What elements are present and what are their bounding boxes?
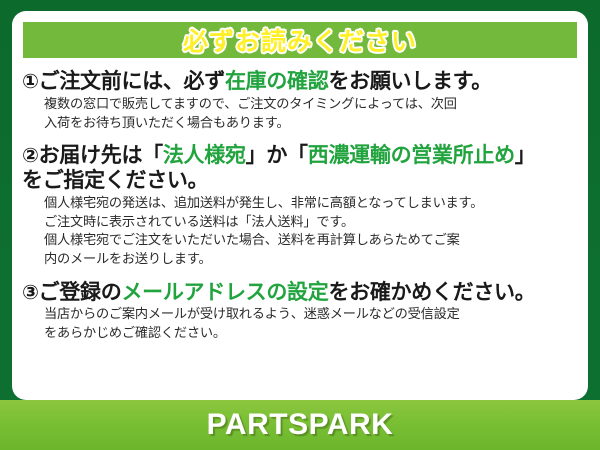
body-line: 複数の窓口で販売してますので、ご注文のタイミングによっては、次回 bbox=[44, 96, 580, 115]
heading-highlight: 在庫の確認 bbox=[225, 69, 329, 93]
heading-part: お届け先は「 bbox=[39, 143, 163, 167]
heading-part: をお願いします。 bbox=[328, 69, 492, 93]
notice-heading-3: ③ご登録のメールアドレスの設定をお確かめください。 bbox=[22, 280, 580, 305]
notice-poster: 必ずお読みください ①ご注文前には、必ず在庫の確認をお願いします。 複数の窓口で… bbox=[0, 0, 600, 450]
notice-body-3: 当店からのご案内メールが受け取れるよう、迷惑メールなどの受信設定 をあらかじめご… bbox=[22, 306, 580, 343]
body-line: 個人様宅宛の発送は、追加送料が発生し、非常に高額となってしまいます。 bbox=[44, 195, 580, 214]
item-marker: ③ bbox=[22, 281, 39, 305]
body-line: をあらかじめご確認ください。 bbox=[44, 325, 580, 344]
heading-highlight: 西濃運輸の営業所止め bbox=[308, 143, 515, 167]
heading-highlight: 法人様宛 bbox=[163, 143, 246, 167]
notice-list: ①ご注文前には、必ず在庫の確認をお願いします。 複数の窓口で販売してますので、ご… bbox=[12, 69, 588, 344]
brand-logo-text: PARTSPARK bbox=[207, 408, 394, 442]
heading-part: ご登録の bbox=[39, 280, 122, 304]
list-item: ②お届け先は「法人様宛」か「西濃運輸の営業所止め」 をご指定ください。 個人様宅… bbox=[12, 143, 588, 269]
heading-part: をお確かめください。 bbox=[328, 280, 535, 304]
heading-part: ご注文前には、必ず bbox=[39, 69, 225, 93]
content-panel: 必ずお読みください ①ご注文前には、必ず在庫の確認をお願いします。 複数の窓口で… bbox=[12, 11, 588, 400]
body-line: 個人様宅宛でご注文をいただいた場合、送料を再計算しあらためてご案 bbox=[44, 232, 580, 251]
item-marker: ② bbox=[22, 144, 39, 168]
heading-part: をご指定ください。 bbox=[22, 168, 208, 192]
notice-body-1: 複数の窓口で販売してますので、ご注文のタイミングによっては、次回 入荷をお待ち頂… bbox=[22, 96, 580, 133]
item-marker: ① bbox=[22, 70, 39, 94]
list-item: ①ご注文前には、必ず在庫の確認をお願いします。 複数の窓口で販売してますので、ご… bbox=[12, 69, 588, 133]
notice-heading-1: ①ご注文前には、必ず在庫の確認をお願いします。 bbox=[22, 69, 580, 94]
heading-highlight: メールアドレスの設定 bbox=[121, 280, 328, 304]
heading-part: 」か「 bbox=[246, 143, 308, 167]
header-banner: 必ずお読みください bbox=[23, 22, 577, 58]
heading-part: 」 bbox=[515, 143, 536, 167]
notice-body-2: 個人様宅宛の発送は、追加送料が発生し、非常に高額となってしまいます。 ご注文時に… bbox=[22, 195, 580, 270]
body-line: 入荷をお待ち頂いただく場合もあります。 bbox=[44, 115, 580, 134]
body-line: 当店からのご案内メールが受け取れるよう、迷惑メールなどの受信設定 bbox=[44, 306, 580, 325]
body-line: 内のメールをお送りします。 bbox=[44, 251, 580, 270]
body-line: ご注文時に表示されている送料は「法人送料」です。 bbox=[44, 214, 580, 233]
brand-footer: PARTSPARK bbox=[0, 400, 600, 450]
notice-heading-2: ②お届け先は「法人様宛」か「西濃運輸の営業所止め」 bbox=[22, 143, 580, 168]
list-item: ③ご登録のメールアドレスの設定をお確かめください。 当店からのご案内メールが受け… bbox=[12, 280, 588, 344]
notice-heading-2-line2: をご指定ください。 bbox=[22, 168, 580, 193]
page-title: 必ずお読みください bbox=[183, 22, 417, 58]
